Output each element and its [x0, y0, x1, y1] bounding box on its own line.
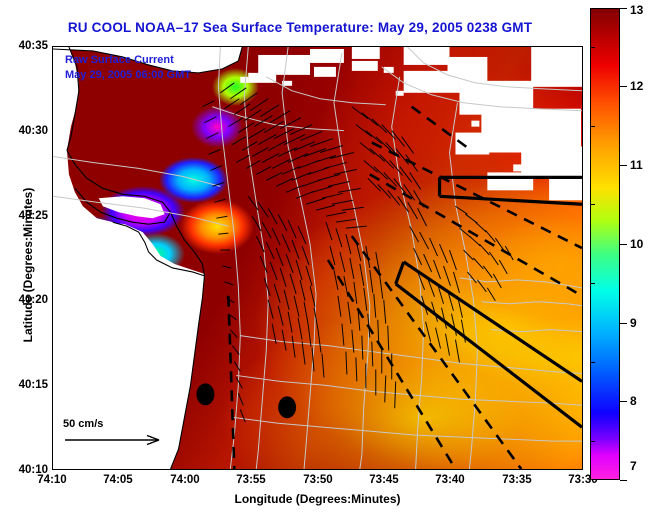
figure-title: RU COOL NOAA–17 Sea Surface Temperature:… [0, 20, 600, 35]
colorbar-tick-label: 12 [630, 79, 643, 93]
station-marker [196, 383, 214, 405]
colorbar-tick-label: 9 [630, 316, 637, 330]
colorbar-tick-label: 10 [630, 237, 643, 251]
x-tick-label: 73:55 [236, 474, 265, 486]
surface-current-annotation: Raw Surface Current May 29, 2005 06:00 G… [65, 53, 191, 83]
scale-bar-label: 50 cm/s [63, 418, 173, 430]
transect-line-solid [396, 284, 582, 427]
colorbar-tick-label: 8 [630, 394, 637, 408]
y-tick-label: 40:30 [4, 125, 48, 137]
colorbar-tick-label: 7 [630, 459, 637, 473]
x-tick-label: 73:45 [369, 474, 398, 486]
y-tick-label: 40:35 [4, 40, 48, 52]
transect-line-dashed [352, 236, 521, 469]
transect-line-dashed [372, 143, 582, 248]
solid-transect-lines [396, 177, 582, 427]
colorbar-tick-label: 11 [630, 158, 643, 172]
transect-line-dashed [412, 107, 472, 151]
x-tick-label: 73:35 [502, 474, 531, 486]
station-markers [196, 383, 296, 418]
transect-and-station-layer[interactable] [53, 47, 582, 469]
x-tick-label: 73:40 [435, 474, 464, 486]
sst-map-figure: RU COOL NOAA–17 Sea Surface Temperature:… [0, 0, 651, 515]
scale-bar-arrow-icon [63, 432, 171, 448]
x-tick-label: 74:05 [103, 474, 132, 486]
vector-scale-bar: 50 cm/s [63, 418, 173, 453]
transect-line-dashed [228, 296, 234, 469]
map-plot-area[interactable]: Raw Surface Current May 29, 2005 06:00 G… [52, 46, 583, 470]
transect-line-solid [440, 196, 582, 204]
station-marker [278, 396, 296, 418]
y-axis-label: Latitude (Degrees:Minutes) [21, 145, 35, 385]
transect-line-dashed [370, 174, 582, 295]
annotation-line-1: Raw Surface Current [65, 53, 191, 68]
colorbar-tick-label: 13 [630, 3, 643, 17]
annotation-line-2: May 29, 2005 06:00 GMT [65, 68, 191, 83]
temperature-colorbar[interactable] [590, 8, 620, 480]
transect-line-solid [396, 262, 404, 284]
x-tick-label: 73:50 [303, 474, 332, 486]
x-tick-label: 74:00 [170, 474, 199, 486]
x-axis-label: Longitude (Degrees:Minutes) [52, 492, 583, 506]
y-tick-label: 40:10 [4, 464, 48, 476]
transect-line-dashed [328, 260, 456, 469]
